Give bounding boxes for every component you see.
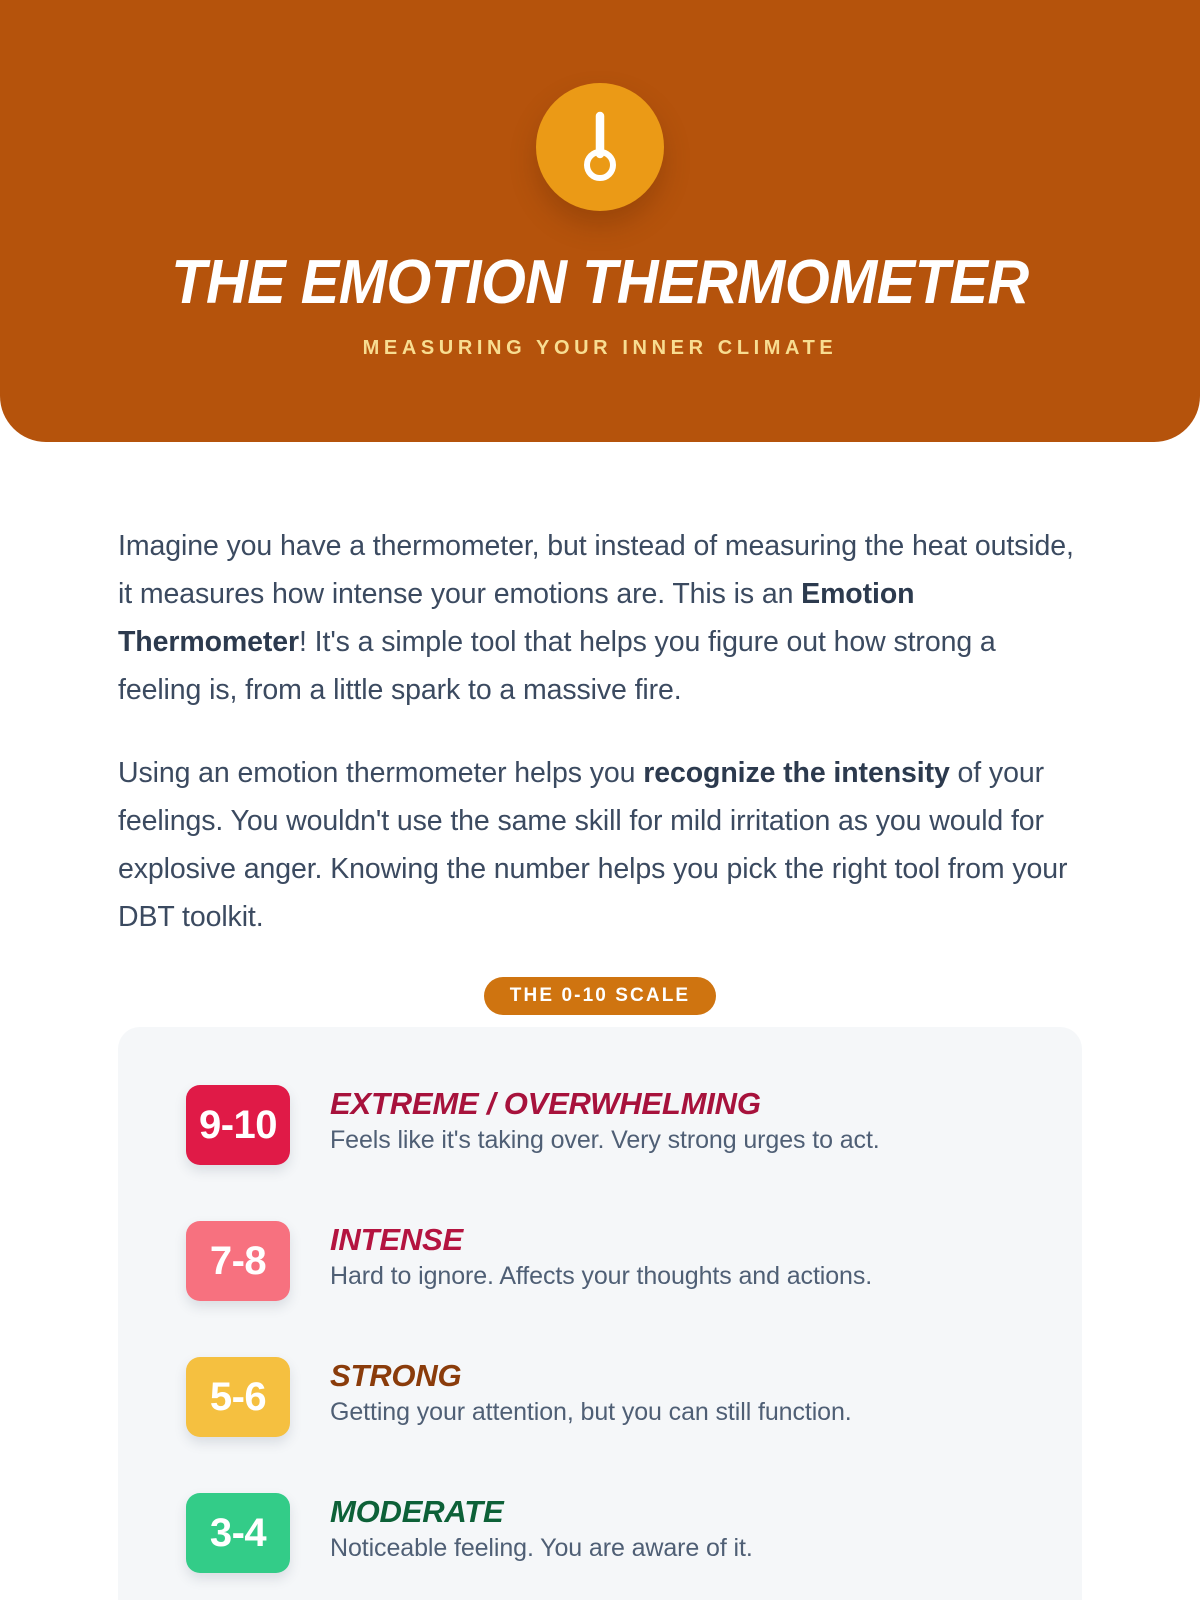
page-title: THE EMOTION THERMOMETER xyxy=(42,251,1158,315)
level-range-chip: 5-6 xyxy=(186,1357,290,1437)
scale-row: 5-6STRONGGetting your attention, but you… xyxy=(186,1357,1082,1437)
level-text-block: INTENSEHard to ignore. Affects your thou… xyxy=(330,1221,872,1293)
intro-p1-text-1: Imagine you have a thermometer, but inst… xyxy=(118,530,1074,610)
scale-row: 9-10EXTREME / OVERWHELMINGFeels like it'… xyxy=(186,1085,1082,1165)
page-subtitle: MEASURING YOUR INNER CLIMATE xyxy=(0,337,1200,360)
level-title: EXTREME / OVERWHELMING xyxy=(330,1087,880,1120)
intro-paragraph-2: Using an emotion thermometer helps you r… xyxy=(118,714,1082,941)
scale-badge-row: THE 0-10 SCALE xyxy=(118,977,1082,1015)
level-text-block: MODERATENoticeable feeling. You are awar… xyxy=(330,1493,753,1565)
level-description: Getting your attention, but you can stil… xyxy=(330,1396,852,1429)
thermometer-icon xyxy=(570,110,630,184)
scale-rows: 9-10EXTREME / OVERWHELMINGFeels like it'… xyxy=(186,1085,1082,1600)
level-description: Hard to ignore. Affects your thoughts an… xyxy=(330,1260,872,1293)
level-text-block: STRONGGetting your attention, but you ca… xyxy=(330,1357,852,1429)
level-range-chip: 7-8 xyxy=(186,1221,290,1301)
level-title: STRONG xyxy=(330,1359,852,1392)
intro-p2-emphasis: recognize the intensity xyxy=(643,757,950,789)
level-range-chip: 3-4 xyxy=(186,1493,290,1573)
scale-row: 7-8INTENSEHard to ignore. Affects your t… xyxy=(186,1221,1082,1301)
level-range-chip: 9-10 xyxy=(186,1085,290,1165)
level-description: Noticeable feeling. You are aware of it. xyxy=(330,1532,753,1565)
scale-section-badge: THE 0-10 SCALE xyxy=(484,977,716,1015)
level-text-block: EXTREME / OVERWHELMINGFeels like it's ta… xyxy=(330,1085,880,1157)
infographic-page: THE EMOTION THERMOMETER MEASURING YOUR I… xyxy=(0,0,1200,1600)
scale-list-card: 9-10EXTREME / OVERWHELMINGFeels like it'… xyxy=(118,1027,1082,1600)
scale-row: 3-4MODERATENoticeable feeling. You are a… xyxy=(186,1493,1082,1573)
thermometer-icon-badge xyxy=(536,83,664,211)
intro-paragraph-1: Imagine you have a thermometer, but inst… xyxy=(118,442,1082,714)
content-area: Imagine you have a thermometer, but inst… xyxy=(0,442,1200,1600)
level-title: MODERATE xyxy=(330,1495,753,1528)
intro-p2-text-1: Using an emotion thermometer helps you xyxy=(118,757,643,789)
level-description: Feels like it's taking over. Very strong… xyxy=(330,1124,880,1157)
level-title: INTENSE xyxy=(330,1223,872,1256)
header-banner: THE EMOTION THERMOMETER MEASURING YOUR I… xyxy=(0,0,1200,442)
